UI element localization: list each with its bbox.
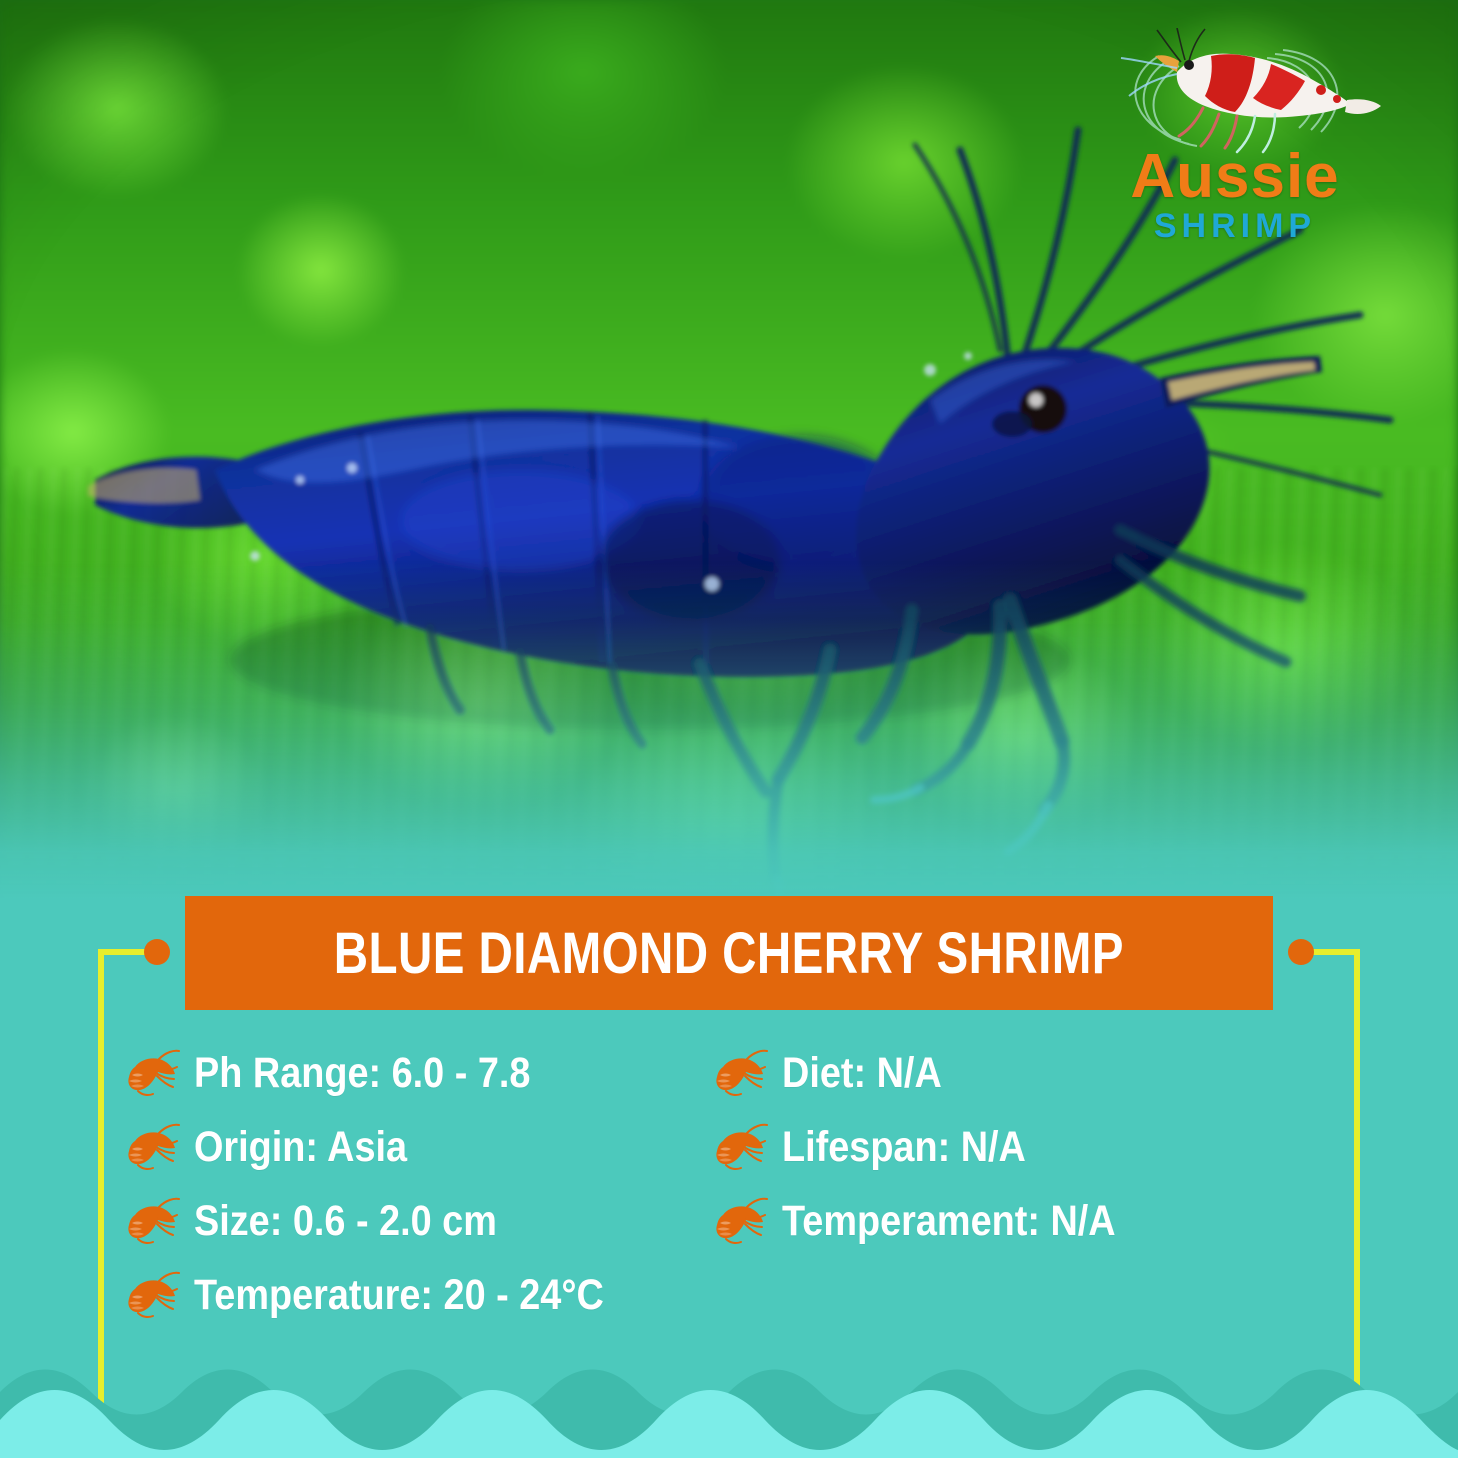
shrimp-bullet-icon [126, 1271, 180, 1319]
spec-item-diet: Diet: N/A [714, 1036, 1366, 1110]
spec-label: Temperature: 20 - 24°C [194, 1271, 604, 1320]
spec-label: Temperament: N/A [782, 1197, 1116, 1246]
shrimp-bullet-icon [126, 1197, 180, 1245]
spec-label: Diet: N/A [782, 1049, 942, 1098]
page-title: BLUE DIAMOND CHERRY SHRIMP [334, 920, 1124, 987]
spec-label: Ph Range: 6.0 - 7.8 [194, 1049, 530, 1098]
spec-label: Origin: Asia [194, 1123, 407, 1172]
spec-spacer [714, 1258, 1366, 1332]
shrimp-species-info-card: Aussie SHRIMP BLUE DIAMOND CHERRY SHRIMP [0, 0, 1458, 1458]
shrimp-bullet-icon [714, 1049, 768, 1097]
spec-label: Lifespan: N/A [782, 1123, 1026, 1172]
shrimp-bullet-icon [126, 1049, 180, 1097]
spec-label: Size: 0.6 - 2.0 cm [194, 1197, 497, 1246]
shrimp-bullet-icon [126, 1123, 180, 1171]
shrimp-bullet-icon [714, 1123, 768, 1171]
spec-item-ph-range: Ph Range: 6.0 - 7.8 [126, 1036, 714, 1110]
spec-item-lifespan: Lifespan: N/A [714, 1110, 1366, 1184]
bracket-right-dot [1288, 939, 1314, 965]
bottom-wave-decoration [0, 1358, 1458, 1458]
spec-item-temperament: Temperament: N/A [714, 1184, 1366, 1258]
spec-item-temperature: Temperature: 20 - 24°C [126, 1258, 714, 1332]
shrimp-bullet-icon [714, 1197, 768, 1245]
title-banner: BLUE DIAMOND CHERRY SHRIMP [185, 896, 1273, 1010]
species-spec-list: Ph Range: 6.0 - 7.8 Origin: Asia [126, 1036, 1366, 1332]
spec-item-origin: Origin: Asia [126, 1110, 714, 1184]
spec-item-size: Size: 0.6 - 2.0 cm [126, 1184, 714, 1258]
